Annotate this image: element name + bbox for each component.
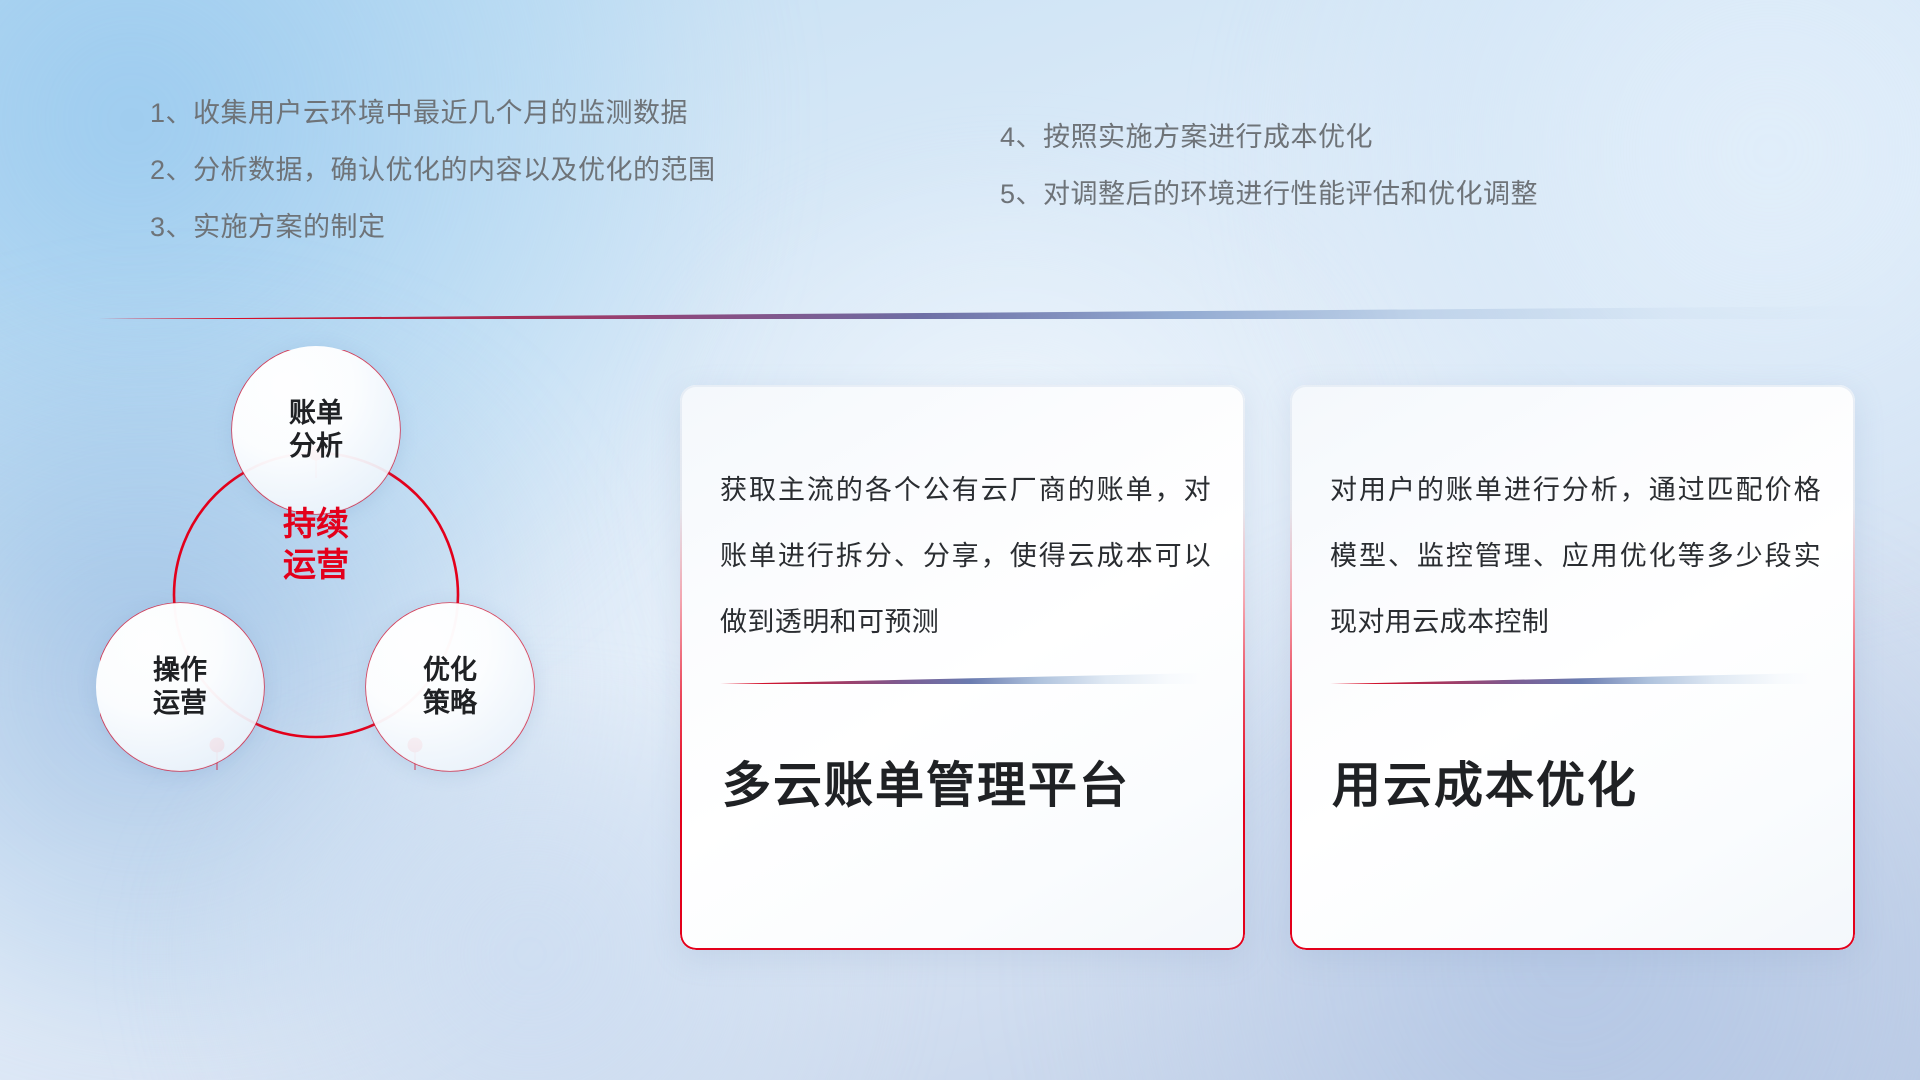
cycle-bubble-left-line2: 运营	[153, 687, 207, 720]
cycle-center-line1: 持续	[213, 503, 419, 544]
slide-canvas: 1、收集用户云环境中最近几个月的监测数据 2、分析数据，确认优化的内容以及优化的…	[0, 0, 1920, 1080]
cycle-bubble-top-line2: 分析	[289, 430, 343, 463]
feature-card-1-body: 获取主流的各个公有云厂商的账单，对账单进行拆分、分享，使得云成本可以做到透明和可…	[720, 457, 1211, 655]
feature-card-multicloud-billing[interactable]: 获取主流的各个公有云厂商的账单，对账单进行拆分、分享，使得云成本可以做到透明和可…	[680, 385, 1245, 950]
cycle-center-label: 持续 运营	[213, 503, 419, 586]
step-list-left: 1、收集用户云环境中最近几个月的监测数据 2、分析数据，确认优化的内容以及优化的…	[150, 100, 716, 241]
step-item-1: 1、收集用户云环境中最近几个月的监测数据	[150, 100, 716, 127]
cycle-bubble-left-line1: 操作	[153, 654, 207, 687]
cycle-bubble-bill-analysis[interactable]: 账单 分析	[232, 346, 400, 514]
step-item-2: 2、分析数据，确认优化的内容以及优化的范围	[150, 157, 716, 184]
step-item-4: 4、按照实施方案进行成本优化	[1000, 124, 1538, 151]
cycle-bubble-top-line1: 账单	[289, 397, 343, 430]
feature-card-cloud-cost-optimization[interactable]: 对用户的账单进行分析，通过匹配价格模型、监控管理、应用优化等多少段实现对用云成本…	[1290, 385, 1855, 950]
cycle-bubble-right-line1: 优化	[423, 654, 477, 687]
feature-card-1-divider	[720, 673, 1202, 684]
step-item-3: 3、实施方案的制定	[150, 214, 716, 241]
feature-card-2-body: 对用户的账单进行分析，通过匹配价格模型、监控管理、应用优化等多少段实现对用云成本…	[1330, 457, 1821, 655]
cycle-diagram: 账单 分析 操作 运营 优化 策略 持续 运营	[100, 350, 660, 950]
feature-card-2-title: 用云成本优化	[1332, 757, 1821, 816]
cycle-bubble-operations[interactable]: 操作 运营	[96, 603, 264, 771]
feature-card-2-divider	[1330, 673, 1812, 684]
cycle-bubble-optimization-strategy[interactable]: 优化 策略	[366, 603, 534, 771]
step-item-5: 5、对调整后的环境进行性能评估和优化调整	[1000, 181, 1538, 208]
section-divider	[98, 306, 1888, 319]
step-list-right: 4、按照实施方案进行成本优化 5、对调整后的环境进行性能评估和优化调整	[1000, 124, 1538, 208]
feature-card-1-title: 多云账单管理平台	[722, 757, 1211, 816]
cycle-bubble-right-line2: 策略	[423, 687, 477, 720]
cycle-center-line2: 运营	[213, 544, 419, 585]
